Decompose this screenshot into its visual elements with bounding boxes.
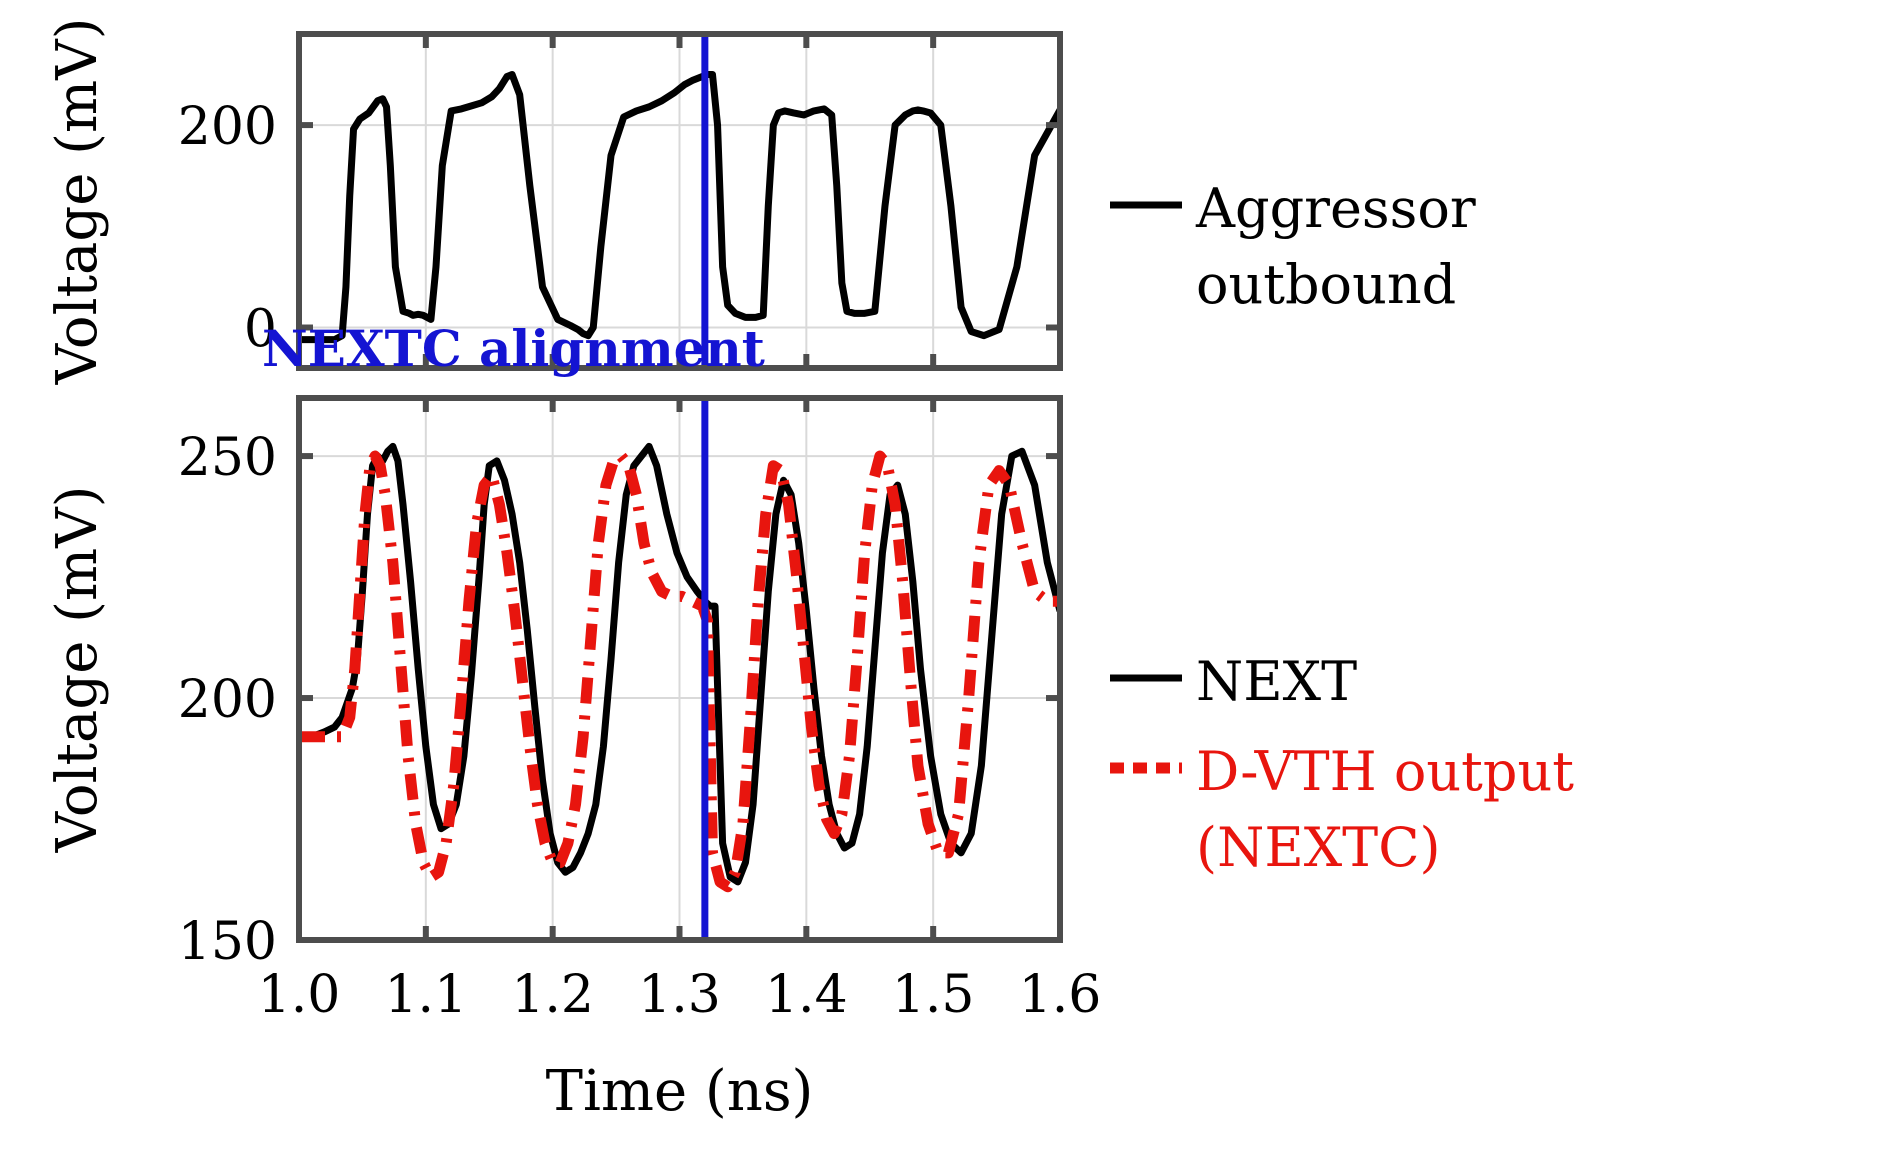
legend-entry-3: D-VTH output(NEXTC) bbox=[1110, 740, 1574, 879]
x-axis-label: Time (ns) bbox=[546, 1059, 814, 1124]
legend-label-3: D-VTH output bbox=[1196, 740, 1574, 803]
nextc-alignment-annotation: NEXTC alignment bbox=[262, 319, 765, 378]
xtick-label: 1.1 bbox=[384, 965, 467, 1025]
legend-entry-2: NEXT bbox=[1110, 650, 1357, 713]
xtick-label: 1.0 bbox=[258, 965, 341, 1025]
ytick-label: 250 bbox=[178, 428, 277, 488]
legend: AggressoroutboundNEXTD-VTH output(NEXTC) bbox=[1110, 177, 1574, 879]
legend-label-1: Aggressor bbox=[1195, 177, 1476, 240]
legend-entry-1: Aggressoroutbound bbox=[1110, 177, 1476, 316]
ytick-label: 150 bbox=[178, 912, 277, 972]
legend-label-1: outbound bbox=[1196, 253, 1456, 316]
xtick-label: 1.6 bbox=[1019, 965, 1102, 1025]
y-axis-label-top: Voltage (mV) bbox=[45, 18, 110, 386]
xtick-label: 1.3 bbox=[638, 965, 721, 1025]
panel-bottom: 1.01.11.21.31.41.51.6150200250Voltage (m… bbox=[45, 398, 1101, 1025]
figure-root: 0200Voltage (mV)1.01.11.21.31.41.51.6150… bbox=[0, 0, 1890, 1157]
y-axis-label-bottom: Voltage (mV) bbox=[45, 486, 110, 854]
waveform-figure: 0200Voltage (mV)1.01.11.21.31.41.51.6150… bbox=[0, 0, 1890, 1157]
xtick-label: 1.4 bbox=[765, 965, 848, 1025]
ytick-label: 200 bbox=[178, 670, 277, 730]
legend-label-2: NEXT bbox=[1196, 650, 1357, 713]
ytick-label: 200 bbox=[178, 97, 277, 157]
xtick-label: 1.2 bbox=[511, 965, 594, 1025]
legend-label-3: (NEXTC) bbox=[1196, 816, 1441, 879]
xtick-label: 1.5 bbox=[892, 965, 975, 1025]
